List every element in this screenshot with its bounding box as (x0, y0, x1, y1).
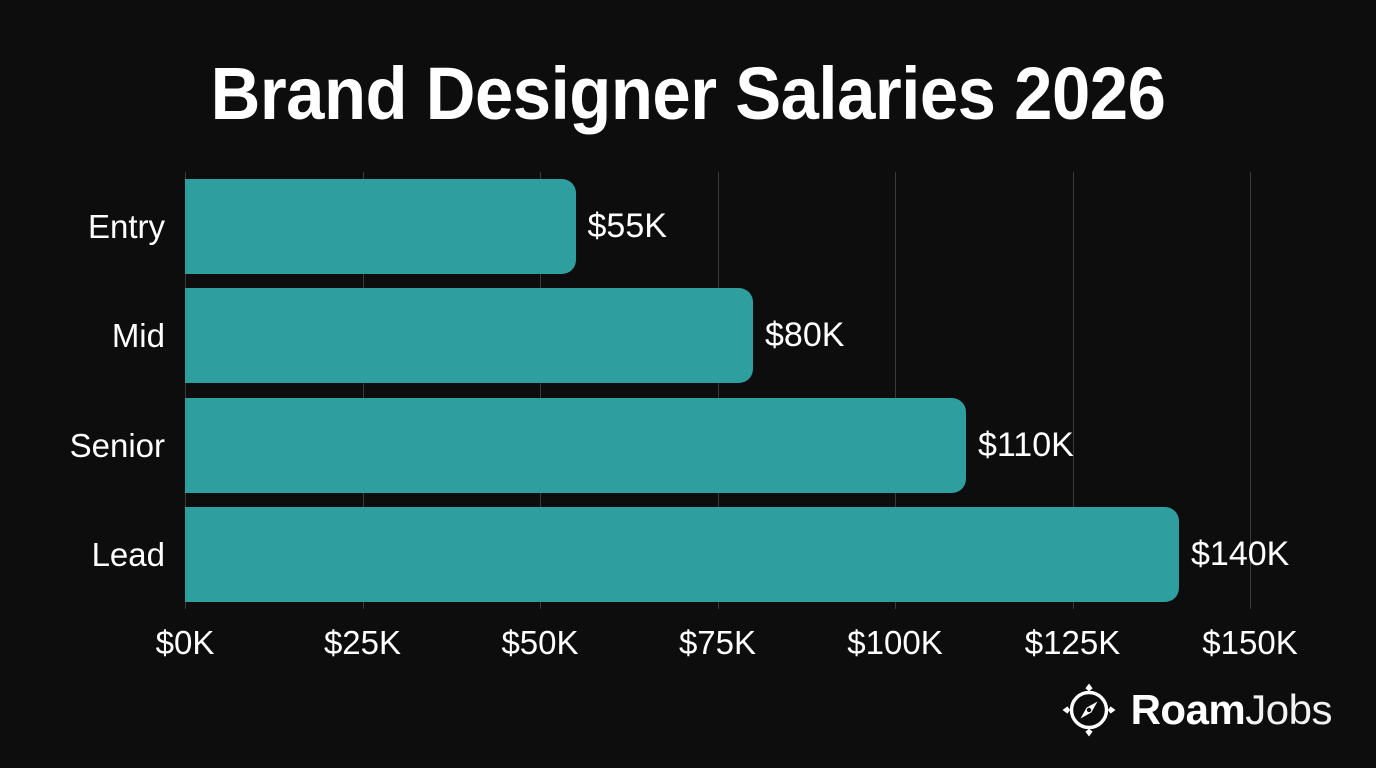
bar-value-label: $140K (1179, 507, 1289, 602)
salary-chart-poster: Brand Designer Salaries 2026 Entry$55KMi… (0, 0, 1376, 768)
bar-value-label: $55K (576, 179, 667, 274)
bar[interactable] (185, 398, 966, 493)
page-title: Brand Designer Salaries 2026 (48, 52, 1328, 136)
logo-word-jobs: Jobs (1245, 686, 1332, 733)
bar-row[interactable]: Lead$140K (185, 507, 1250, 602)
logo-word-roam: Roam (1131, 686, 1246, 733)
x-axis-tick-label: $150K (1150, 624, 1350, 662)
x-axis-tick-label: $0K (85, 624, 285, 662)
bar-value-label: $110K (966, 398, 1074, 493)
bar[interactable] (185, 288, 753, 383)
category-label: Entry (88, 179, 165, 274)
bar-value-label: $80K (753, 288, 844, 383)
compass-icon (1061, 682, 1117, 738)
x-axis-tick-label: $25K (263, 624, 463, 662)
roamjobs-logo: RoamJobs (1061, 682, 1332, 738)
bar[interactable] (185, 179, 576, 274)
bar-row[interactable]: Senior$110K (185, 398, 1250, 493)
bar[interactable] (185, 507, 1179, 602)
x-axis-tick-label: $100K (795, 624, 995, 662)
category-label: Mid (112, 288, 165, 383)
x-axis-tick-label: $125K (973, 624, 1173, 662)
category-label: Senior (70, 398, 165, 493)
bar-row[interactable]: Entry$55K (185, 179, 1250, 274)
chart-plot-area: Entry$55KMid$80KSenior$110KLead$140K $0K… (185, 172, 1250, 609)
bar-row[interactable]: Mid$80K (185, 288, 1250, 383)
x-axis-tick-label: $75K (618, 624, 818, 662)
category-label: Lead (92, 507, 165, 602)
logo-wordmark: RoamJobs (1131, 687, 1332, 733)
x-axis-tick-label: $50K (440, 624, 640, 662)
